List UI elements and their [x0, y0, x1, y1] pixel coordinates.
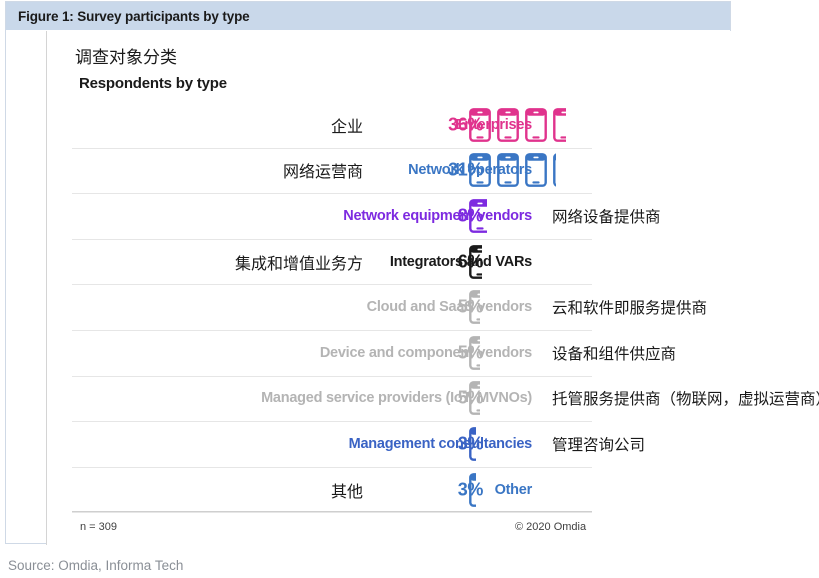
row-label-english: Managed service providers (IoT, MVNOs) [261, 390, 532, 406]
phone-pictogram-icon [469, 199, 487, 233]
row-pictogram [469, 290, 480, 324]
phone-pictogram-icon [469, 336, 480, 370]
row-pictogram [469, 245, 482, 279]
phone-pictogram-icon [469, 245, 482, 279]
row-label-chinese: 企业 [331, 113, 363, 137]
pictogram-row: 其他Other3% [47, 467, 732, 513]
phone-pictogram-icon [497, 108, 519, 142]
row-percent-value: 3% [437, 479, 483, 500]
pictogram-row: Cloud and SaaS vendors5%云和软件即服务提供商 [47, 284, 732, 330]
phone-pictogram-icon [469, 381, 480, 415]
chart-card-footer: n = 309 © 2020 Omdia [47, 511, 732, 545]
pictogram-row: Device and component vendors5%设备和组件供应商 [47, 330, 732, 376]
row-pictogram [469, 381, 480, 415]
figure-caption-bar: Figure 1: Survey participants by type [6, 2, 730, 30]
sample-size-label: n = 309 [80, 521, 117, 533]
row-annotation-chinese: 管理咨询公司 [552, 433, 645, 455]
pictogram-row: 集成和增值业务方Integrators and VARs6% [47, 239, 732, 285]
chart-title-chinese: 调查对象分类 [75, 43, 177, 68]
footer-divider [72, 511, 592, 512]
row-pictogram [469, 108, 566, 142]
phone-pictogram-icon [553, 153, 556, 187]
row-pictogram [469, 153, 556, 187]
figure-caption-text: Figure 1: Survey participants by type [18, 9, 250, 24]
phone-pictogram-icon [469, 473, 476, 507]
row-annotation-chinese: 设备和组件供应商 [552, 342, 676, 364]
pictogram-row: Managed service providers (IoT, MVNOs)5%… [47, 376, 732, 422]
row-pictogram [469, 473, 476, 507]
row-annotation-chinese: 云和软件即服务提供商 [552, 296, 707, 318]
phone-pictogram-icon [553, 108, 566, 142]
row-annotation-chinese: 网络设备提供商 [552, 205, 661, 227]
phone-pictogram-icon [497, 153, 519, 187]
row-pictogram [469, 427, 476, 461]
pictogram-row: Network equipment vendors8%网络设备提供商 [47, 193, 732, 239]
phone-pictogram-icon [469, 153, 491, 187]
row-label-english: Other [495, 482, 532, 498]
row-label-english: Device and component vendors [320, 345, 532, 361]
pictogram-row: Management consultancies3%管理咨询公司 [47, 421, 732, 467]
phone-pictogram-icon [469, 427, 476, 461]
row-label-chinese: 网络运营商 [283, 158, 363, 182]
pictogram-rows: 企业Enterprises36%网络运营商Network operators31… [47, 102, 732, 512]
row-pictogram [469, 199, 487, 233]
row-label-chinese: 集成和增值业务方 [235, 250, 363, 274]
phone-pictogram-icon [469, 108, 491, 142]
pictogram-row: 企业Enterprises36% [47, 102, 732, 148]
row-pictogram [469, 336, 480, 370]
row-annotation-chinese: 托管服务提供商（物联网，虚拟运营商） [552, 387, 819, 409]
figure-frame: Figure 1: Survey participants by type 调查… [5, 1, 731, 544]
copyright-label: © 2020 Omdia [515, 521, 586, 533]
phone-pictogram-icon [525, 108, 547, 142]
row-label-chinese: 其他 [331, 478, 363, 502]
phone-pictogram-icon [525, 153, 547, 187]
chart-title-english: Respondents by type [79, 75, 227, 92]
pictogram-row: 网络运营商Network operators31% [47, 148, 732, 194]
chart-card: 调查对象分类 Respondents by type 企业Enterprises… [46, 31, 732, 545]
source-line: Source: Omdia, Informa Tech [8, 558, 183, 573]
phone-pictogram-icon [469, 290, 480, 324]
row-percent-value: 3% [437, 433, 483, 454]
